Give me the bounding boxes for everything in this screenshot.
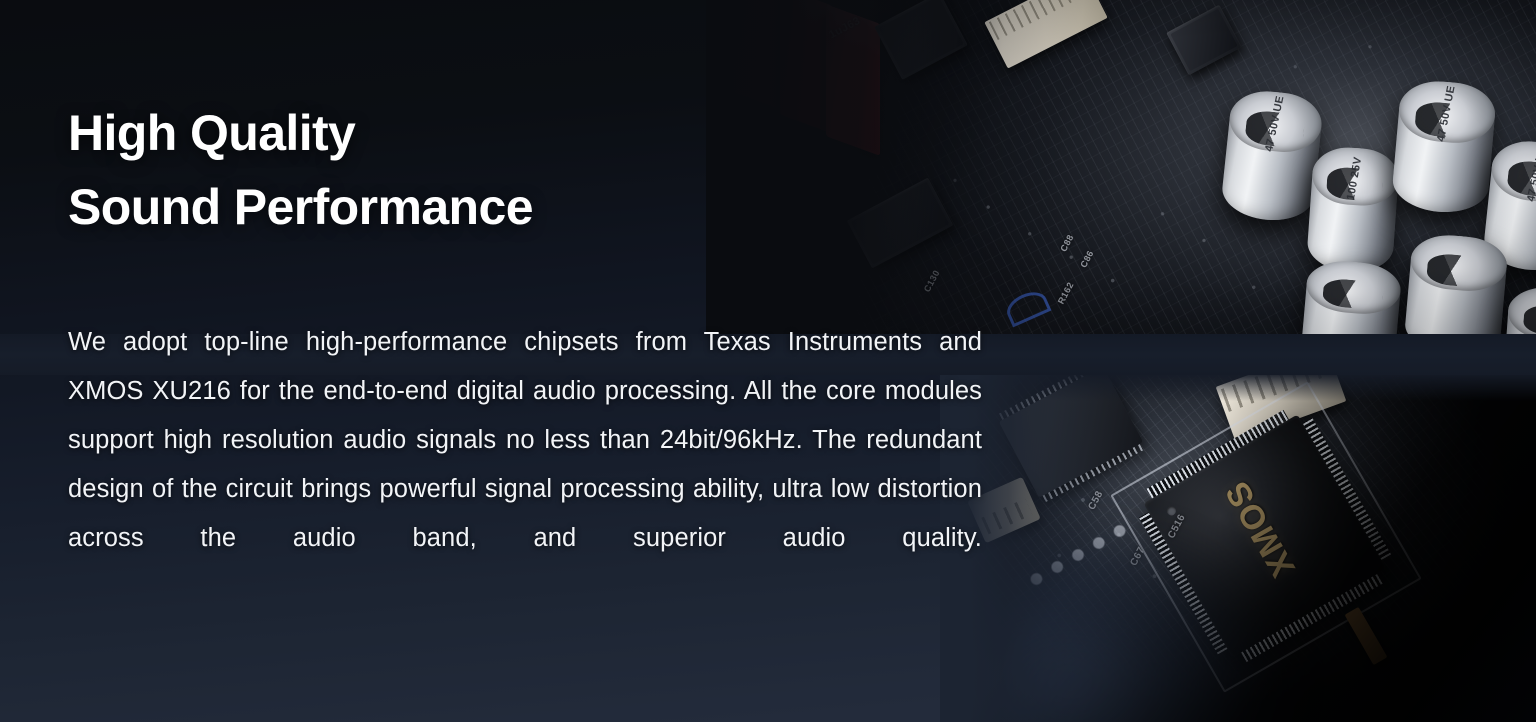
heading-line-1: High Quality: [68, 96, 533, 170]
text-content: High Quality Sound Performance We adopt …: [68, 0, 984, 722]
heading-line-2: Sound Performance: [68, 170, 533, 244]
section-paragraph: We adopt top-line high-performance chips…: [68, 318, 982, 612]
photo-left-fade: [940, 375, 1536, 722]
section-heading: High Quality Sound Performance: [68, 96, 533, 244]
xmos-chip-photo-bottom: XMOS C58 C67 C516: [940, 375, 1536, 722]
feature-banner: 47 50V UE 100 25V 47 50V UE 47 50V UE C1…: [0, 0, 1536, 722]
